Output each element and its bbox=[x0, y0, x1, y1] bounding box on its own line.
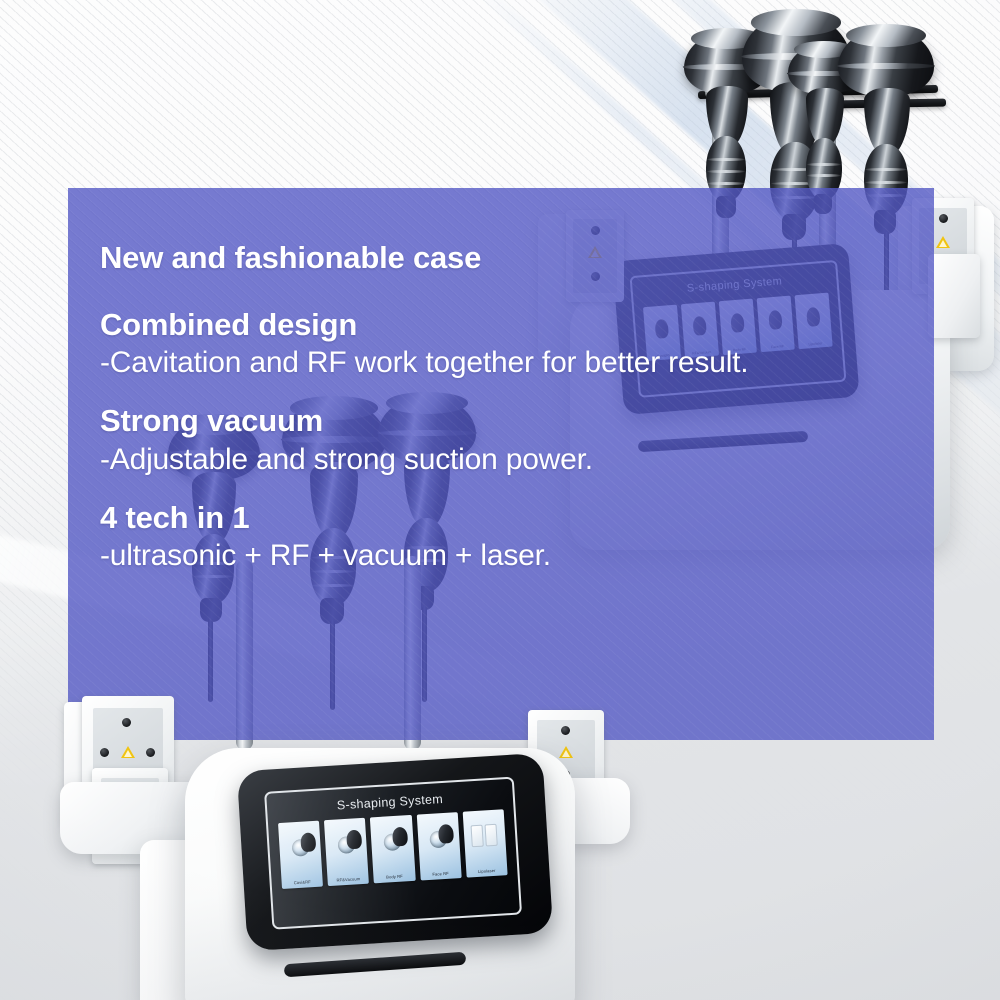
image-vignette bbox=[0, 0, 1000, 1000]
product-banner: S-shaping System Cavi&RF RF&Vacuum Body … bbox=[0, 0, 1000, 1000]
